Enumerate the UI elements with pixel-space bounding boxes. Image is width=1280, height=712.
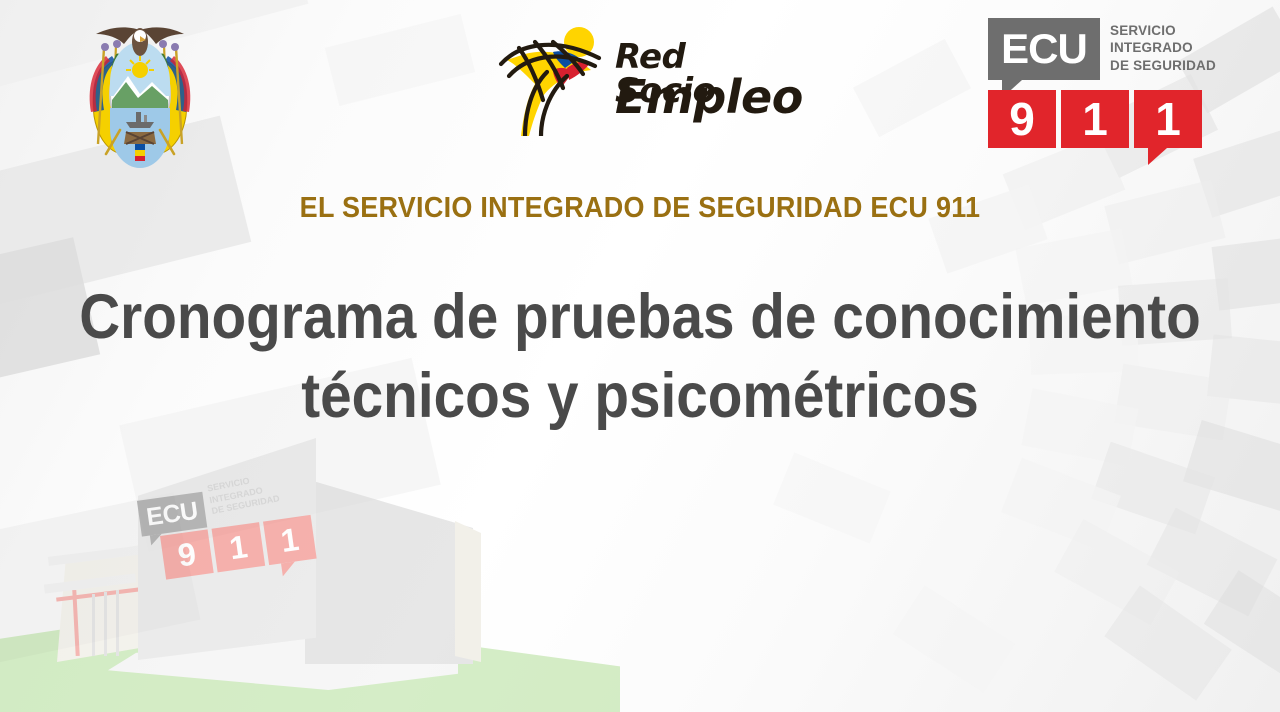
ecu-brand-text: ECU: [988, 18, 1100, 80]
red-socio-empleo-logo-icon: Red Socio Empleo: [495, 18, 785, 136]
building-digit-3: 1: [263, 515, 317, 565]
kicker-heading: EL SERVICIO INTEGRADO DE SEGURIDAD ECU 9…: [45, 192, 1235, 225]
red-socio-empleo-line2: Empleo: [615, 74, 803, 120]
bg-tile: [1204, 570, 1280, 686]
bg-tile: [1001, 458, 1121, 550]
ecu-digits: 9 1 1: [988, 90, 1223, 152]
page-title-line1: Cronograma de pruebas de conocimiento: [79, 282, 1201, 352]
building-digit-tail-icon: [281, 562, 297, 577]
ecu-tagline-line1: SERVICIO: [1110, 22, 1225, 39]
ecu-digit-2: 1: [1061, 90, 1129, 148]
ecu911-logo-icon: ECU SERVICIO INTEGRADO DE SEGURIDAD 9 1 …: [988, 18, 1223, 138]
ecu-digit-tail-icon: [1148, 148, 1167, 165]
bg-tile: [1212, 233, 1280, 310]
slide-root: Red Socio Empleo ECU SERVICIO INTEGRADO …: [0, 0, 1280, 712]
bg-tile: [773, 453, 890, 544]
building-digit-1: 9: [160, 529, 214, 579]
building-digit-2: 1: [212, 522, 266, 572]
bg-tile: [1091, 442, 1215, 535]
building-column: [455, 512, 481, 662]
ecu-digit-1: 9: [988, 90, 1056, 148]
bg-tile: [1054, 519, 1179, 625]
bg-tile: [893, 585, 1015, 692]
annex-window: [92, 594, 95, 656]
ecu-tagline: SERVICIO INTEGRADO DE SEGURIDAD: [1110, 22, 1225, 74]
ecu911-building-illustration: ECU SERVICIO INTEGRADO DE SEGURIDAD 9 1 …: [0, 412, 640, 712]
ecu-digit-3: 1: [1134, 90, 1202, 148]
ecu-brand-box: ECU: [988, 18, 1100, 80]
annex-window: [116, 590, 119, 656]
ecu-tagline-line2: INTEGRADO: [1110, 39, 1225, 56]
ecuador-coat-of-arms-icon: [60, 12, 220, 172]
bg-tile: [1104, 585, 1231, 700]
bg-tile: [1207, 334, 1280, 407]
ecu-tagline-line3: DE SEGURIDAD: [1110, 57, 1225, 74]
bg-tile: [1147, 508, 1278, 617]
annex-window: [104, 592, 107, 656]
header: Red Socio Empleo ECU SERVICIO INTEGRADO …: [0, 0, 1280, 165]
